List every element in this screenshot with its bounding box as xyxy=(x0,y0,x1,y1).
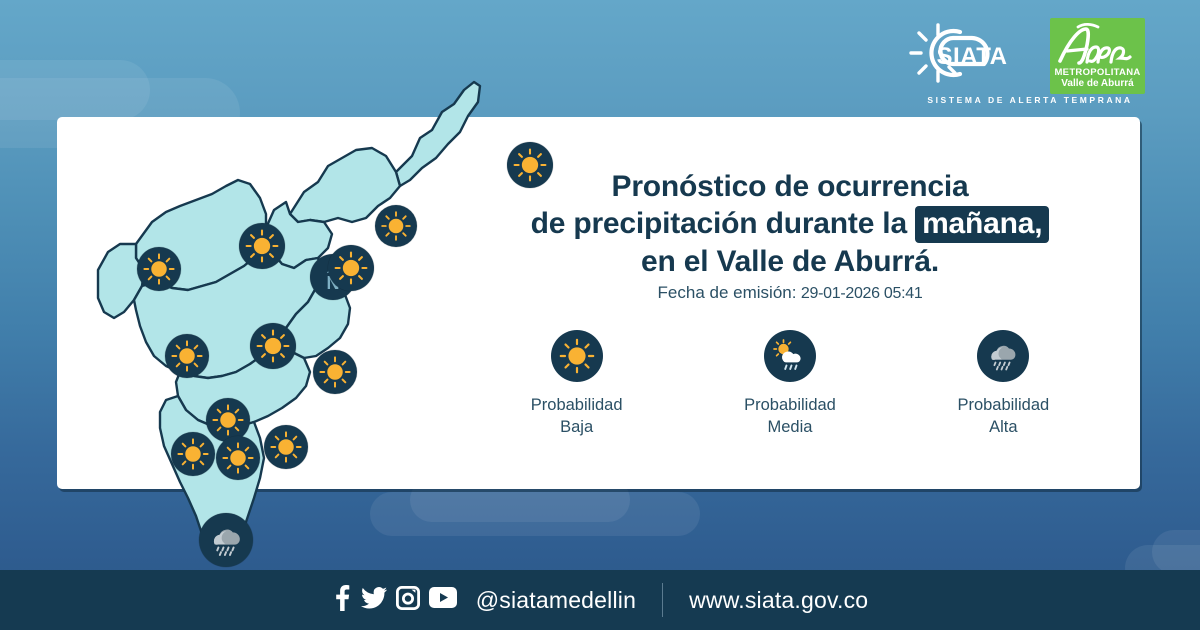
legend-label-line2: Alta xyxy=(989,418,1017,436)
sun-icon xyxy=(165,334,209,378)
map-marker xyxy=(171,432,215,476)
sun-icon xyxy=(375,205,417,247)
map-marker xyxy=(264,425,308,469)
legend-label: ProbabilidadAlta xyxy=(957,394,1049,438)
map-marker xyxy=(250,323,296,369)
map-marker xyxy=(375,205,417,247)
sun-icon xyxy=(171,432,215,476)
sun-icon xyxy=(250,323,296,369)
headline-line-2: de precipitación durante la mañana, xyxy=(470,205,1110,243)
emission-value: 29-01-2026 05:41 xyxy=(801,285,923,302)
logo-area: SIATA METROPOLITANA Valle de Aburrá xyxy=(908,18,1145,94)
legend-label: ProbabilidadBaja xyxy=(531,394,623,438)
area-metropolitana-logo: METROPOLITANA Valle de Aburrá xyxy=(1050,18,1145,94)
map-marker xyxy=(137,247,181,291)
map-marker xyxy=(239,223,285,269)
legend-label: ProbabilidadMedia xyxy=(744,394,836,438)
map-marker xyxy=(313,350,357,394)
sun-icon xyxy=(264,425,308,469)
sun-icon xyxy=(551,330,603,382)
sun-icon xyxy=(216,436,260,480)
legend-label-line2: Media xyxy=(768,418,813,436)
emission-date: Fecha de emisión: 29-01-2026 05:41 xyxy=(470,283,1110,303)
headline-line-1: Pronóstico de ocurrencia xyxy=(470,168,1110,205)
twitter-icon[interactable] xyxy=(361,585,387,616)
sun-icon xyxy=(137,247,181,291)
sun-cloud-rain-icon xyxy=(764,330,816,382)
legend-label-line2: Baja xyxy=(560,418,593,436)
social-icons xyxy=(332,585,457,616)
website-url[interactable]: www.siata.gov.co xyxy=(689,587,868,614)
facebook-icon[interactable] xyxy=(332,585,352,616)
footer: @siatamedellin www.siata.gov.co xyxy=(0,570,1200,630)
instagram-icon[interactable] xyxy=(396,586,420,615)
area-logo-script xyxy=(1050,20,1145,68)
page-title: Pronóstico de ocurrencia de precipitació… xyxy=(470,168,1110,280)
sun-icon xyxy=(239,223,285,269)
probability-legend: ProbabilidadBaja ProbabilidadMedia Proba… xyxy=(470,330,1110,438)
svg-text:SIATA: SIATA xyxy=(937,43,1008,70)
cloud-heavy-rain-icon xyxy=(199,513,253,567)
youtube-icon[interactable] xyxy=(429,587,457,613)
map-marker xyxy=(165,334,209,378)
headline-line-2-text: de precipitación durante la xyxy=(531,207,907,240)
emission-label: Fecha de emisión: xyxy=(658,283,797,302)
legend-item: ProbabilidadBaja xyxy=(487,330,667,438)
footer-divider xyxy=(662,583,663,617)
headline-line-3: en el Valle de Aburrá. xyxy=(470,243,1110,280)
aburra-valley-map: N xyxy=(60,46,480,566)
legend-label-line1: Probabilidad xyxy=(957,396,1049,414)
headline-highlight-chip: mañana, xyxy=(915,206,1049,243)
map-marker xyxy=(199,513,253,567)
siata-tagline: SISTEMA DE ALERTA TEMPRANA xyxy=(915,95,1145,105)
legend-item: ProbabilidadAlta xyxy=(913,330,1093,438)
cloud-heavy-rain-icon xyxy=(977,330,1029,382)
background-cloud-bottom-right-2 xyxy=(1152,530,1200,574)
sun-icon xyxy=(313,350,357,394)
social-handle[interactable]: @siatamedellin xyxy=(476,587,636,614)
map-marker xyxy=(328,245,374,291)
siata-logo: SIATA xyxy=(908,18,1038,92)
legend-label-line1: Probabilidad xyxy=(744,396,836,414)
map-marker xyxy=(216,436,260,480)
legend-item: ProbabilidadMedia xyxy=(700,330,880,438)
area-logo-line2: Valle de Aburrá xyxy=(1061,78,1133,89)
area-logo-line1: METROPOLITANA xyxy=(1054,67,1140,78)
sun-icon xyxy=(328,245,374,291)
legend-label-line1: Probabilidad xyxy=(531,396,623,414)
